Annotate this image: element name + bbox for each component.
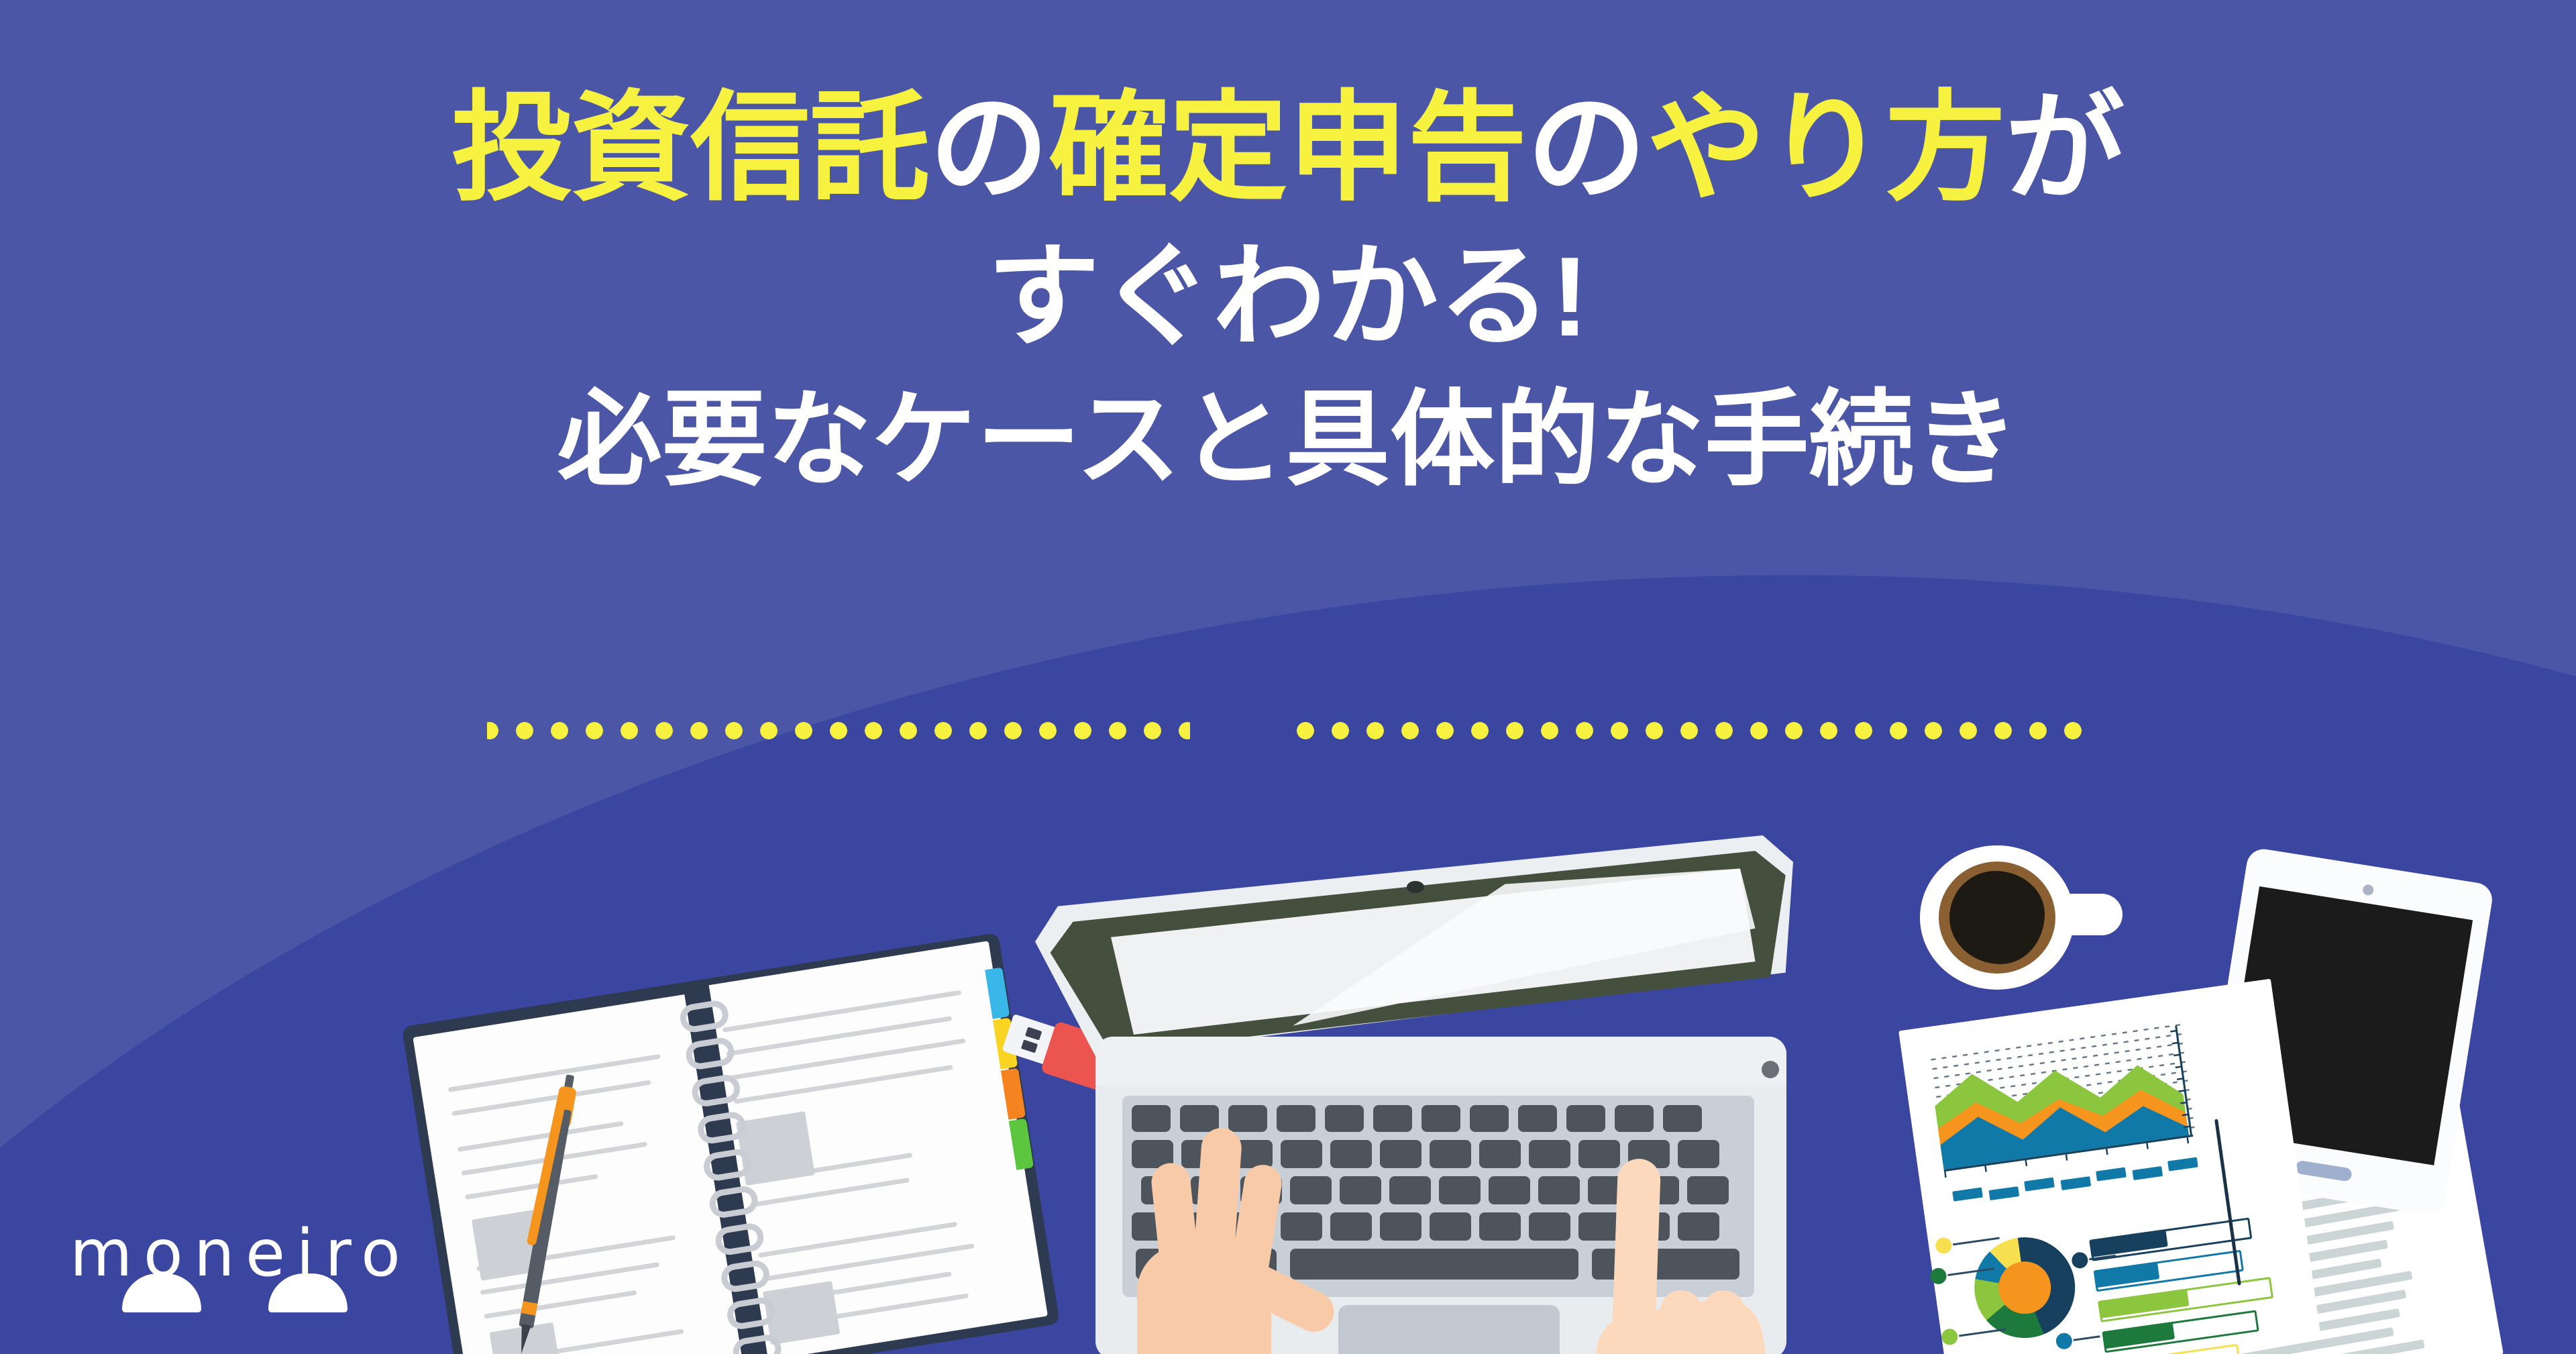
- headline-seg-5: やり方: [1646, 81, 2004, 215]
- pen-tip: [517, 1324, 531, 1354]
- keyboard-key: [1373, 1105, 1412, 1132]
- coffee-cup: [1920, 845, 2121, 1000]
- donut-legend-leader: [2074, 1335, 2100, 1341]
- keyboard-key: [1470, 1105, 1509, 1132]
- pen-band: [521, 1301, 538, 1316]
- laptop: [1023, 835, 1831, 1354]
- coffee-liquid: [1949, 871, 2045, 964]
- laptop-power-indicator: [1762, 1061, 1779, 1078]
- donut-legend-dot-1: [1935, 1237, 1953, 1255]
- keyboard-key: [1430, 1140, 1471, 1168]
- brand-wordmark: moneiro: [70, 1221, 411, 1286]
- headline-seg-2: の: [930, 81, 1049, 215]
- keyboard-key: [1389, 1176, 1431, 1204]
- coffee-cup-handle: [2070, 894, 2123, 935]
- donut-legend-dot-3: [1941, 1328, 1959, 1346]
- headline-line-2: すぐわかる!: [0, 240, 2576, 353]
- hand-right: [1506, 1151, 1794, 1354]
- report-donut-chart: [1968, 1231, 2082, 1344]
- keyboard-key: [1380, 1212, 1421, 1241]
- hero-banner: 投資信託の確定申告のやり方が すぐわかる! 必要なケースと具体的な手続き: [0, 0, 2576, 1354]
- report-paper: [1898, 979, 2321, 1354]
- headline-line-3: 必要なケースと具体的な手続き: [0, 388, 2576, 492]
- laptop-webcam-icon: [1407, 881, 1424, 893]
- headline-seg-3: 確定申告: [1049, 81, 1527, 215]
- headline-seg-1: 投資信託: [451, 81, 930, 215]
- keyboard-key: [1518, 1105, 1557, 1132]
- hand-left: [1077, 1124, 1358, 1354]
- report-donut-center: [1995, 1258, 2054, 1317]
- dotted-underline-segment-2: [1289, 722, 2089, 739]
- headline-seg-4: の: [1527, 81, 1646, 215]
- keyboard-key: [1380, 1140, 1421, 1168]
- donut-legend-dot-4: [2071, 1251, 2089, 1269]
- tablet-camera-icon: [2362, 884, 2374, 896]
- headline-block: 投資信託の確定申告のやり方が すぐわかる! 必要なケースと具体的な手続き: [0, 89, 2576, 492]
- laptop-base-hinge: [1095, 1037, 1786, 1085]
- tablet-home-button: [2295, 1160, 2353, 1182]
- donut-legend-dot-5: [2055, 1332, 2073, 1350]
- dotted-underline-segment-1: [487, 722, 1190, 739]
- area-chart-svg: [1928, 1019, 2209, 1188]
- keyboard-key: [1421, 1105, 1460, 1132]
- keyboard-key: [1663, 1105, 1702, 1132]
- donut-legend-leader: [1953, 1237, 2000, 1246]
- notebook-image-block: [736, 1111, 815, 1186]
- headline-seg-6: が: [2005, 81, 2125, 215]
- headline-line-1: 投資信託の確定申告のやり方が: [0, 89, 2576, 208]
- keyboard-key: [1566, 1105, 1605, 1132]
- brand-logo[interactable]: moneiro: [66, 1214, 347, 1315]
- keyboard-key: [1615, 1105, 1654, 1132]
- dotted-underline: [0, 722, 2576, 739]
- keyboard-key: [1430, 1212, 1471, 1241]
- donut-legend-leader: [1959, 1329, 2006, 1337]
- laptop-lid: [1035, 835, 1793, 1057]
- keyboard-key: [1439, 1176, 1481, 1204]
